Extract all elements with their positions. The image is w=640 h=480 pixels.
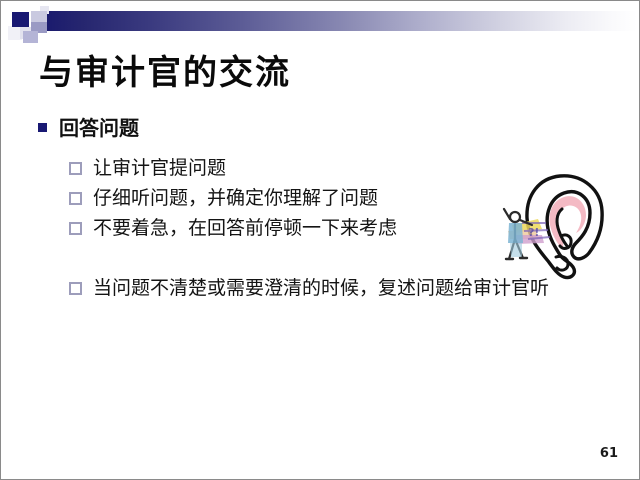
bullet-level1: 回答问题 (37, 114, 640, 142)
bullet-level2-label: 仔细听问题，并确定你理解了问题 (93, 187, 378, 209)
bullet-level2-label: 让审计官提问题 (93, 157, 226, 179)
bullet-level1-label: 回答问题 (59, 116, 139, 140)
bullet-level2-label: 当问题不清楚或需要澄清的时候，复述问题给审计官听 (93, 277, 549, 299)
page-number: 61 (600, 446, 618, 461)
decoration-square-light-d (23, 31, 38, 43)
ear-listening-clipart: ?! (498, 173, 604, 281)
slide-title: 与审计官的交流 (39, 51, 291, 95)
svg-text:?!: ?! (528, 226, 539, 239)
gradient-banner (47, 11, 637, 31)
filled-square-bullet-icon (38, 123, 47, 132)
hollow-square-bullet-icon (69, 192, 82, 205)
decoration-square-light-a (31, 11, 47, 22)
hollow-square-bullet-icon (69, 282, 82, 295)
decoration-square-dark (12, 12, 29, 27)
bullet-level2-label: 不要着急，在回答前停顿一下来考虑 (93, 217, 397, 239)
presentation-slide: 与审计官的交流 回答问题 让审计官提问题 仔细听问题，并确定你理解了问题 不要着… (0, 0, 640, 480)
hollow-square-bullet-icon (69, 222, 82, 235)
hollow-square-bullet-icon (69, 162, 82, 175)
